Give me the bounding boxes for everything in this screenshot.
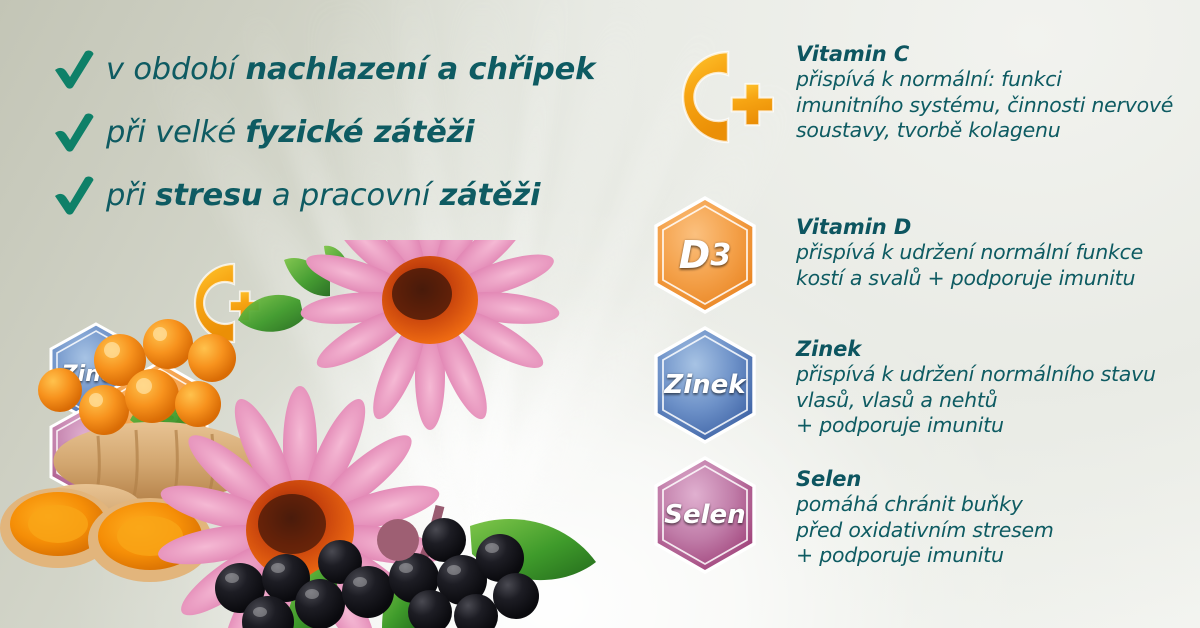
vitamin-description: přispívá k udržení normálního stavu vlas… — [796, 362, 1196, 439]
vitamin-description: pomáhá chránit buňky před oxidativním st… — [796, 492, 1196, 569]
list-item: při velké fyzické zátěži — [52, 101, 612, 164]
list-item-label: v období nachlazení a chřipek — [106, 52, 595, 87]
badge-d3: D3 — [650, 195, 796, 315]
list-item: při stresu a pracovní zátěži — [52, 164, 612, 227]
vitamin-row-selen: Selen Selen pomáhá chránit buňky před ox… — [650, 455, 1196, 575]
benefits-checklist: v období nachlazení a chřipek při velké … — [52, 38, 612, 227]
vitamin-c-plus-logo — [644, 34, 796, 164]
badge-selen: Selen — [650, 455, 796, 575]
promo-banner: v období nachlazení a chřipek při velké … — [0, 0, 1200, 628]
vitamin-title: Vitamin C — [796, 42, 1196, 66]
badge-zinek: Zinek — [650, 325, 796, 445]
vitamin-row-c: Vitamin C přispívá k normální: funkci im… — [644, 34, 1196, 164]
product-ingredients-photo — [0, 240, 660, 628]
list-item: v období nachlazení a chřipek — [52, 38, 612, 101]
vitamin-description: přispívá k udržení normální funkce kostí… — [796, 240, 1196, 291]
list-item-label: při velké fyzické zátěži — [106, 115, 474, 150]
vitamin-description: přispívá k normální: funkci imunitního s… — [796, 67, 1196, 144]
check-icon — [52, 50, 106, 90]
vitamin-title: Zinek — [796, 337, 1196, 361]
list-item-label: při stresu a pracovní zátěži — [106, 178, 540, 213]
check-icon — [52, 176, 106, 216]
vitamin-row-d: D3 Vitamin D přispívá k udržení normální… — [650, 195, 1196, 315]
vitamin-row-zinek: Zinek Zinek přispívá k udržení normálníh… — [650, 325, 1196, 445]
check-icon — [52, 113, 106, 153]
vitamin-title: Selen — [796, 467, 1196, 491]
vitamin-title: Vitamin D — [796, 215, 1196, 239]
